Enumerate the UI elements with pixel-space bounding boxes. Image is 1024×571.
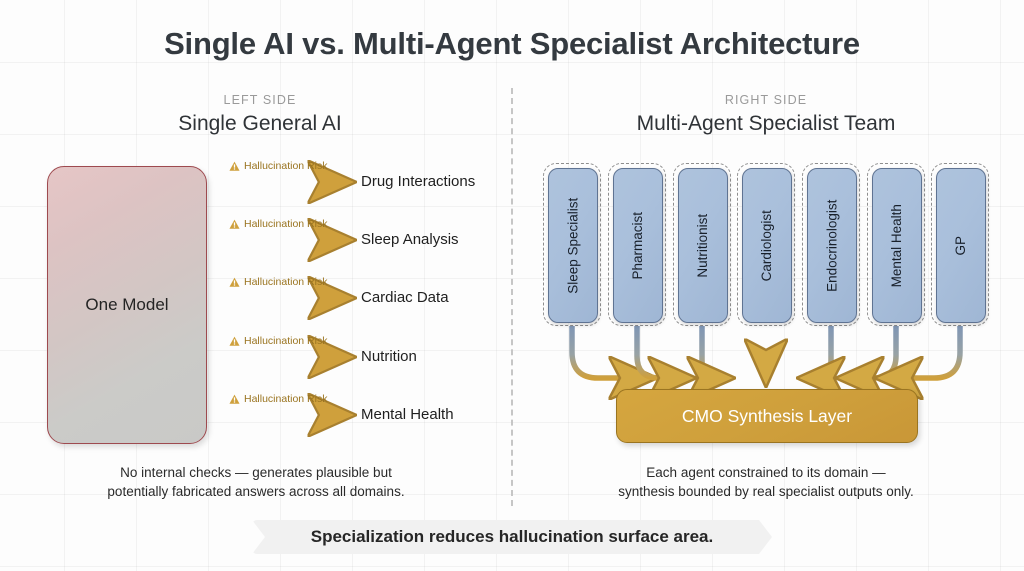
cmo-synthesis-layer-box[interactable]: CMO Synthesis Layer [616, 389, 918, 443]
specialist-pharmacist[interactable]: Pharmacist [608, 163, 666, 326]
specialist-endocrinologist[interactable]: Endocrinologist [802, 163, 860, 326]
risk-tag-mental-health: Hallucination Risk [229, 393, 327, 405]
risk-tag-label: Hallucination Risk [244, 218, 327, 230]
risk-tag-label: Hallucination Risk [244, 393, 327, 405]
center-divider [511, 88, 513, 506]
left-caption-line-1: No internal checks — generates plausible… [36, 463, 476, 482]
specialist-box[interactable]: Pharmacist [613, 168, 663, 323]
one-model-box[interactable]: One Model [47, 166, 207, 444]
specialist-sleep-specialist[interactable]: Sleep Specialist [543, 163, 601, 326]
left-caption: No internal checks — generates plausible… [36, 463, 476, 501]
left-caption-line-2: potentially fabricated answers across al… [36, 482, 476, 501]
cmo-synthesis-layer-label: CMO Synthesis Layer [682, 406, 852, 427]
specialist-mental-health[interactable]: Mental Health [867, 163, 925, 326]
risk-tag-drug-interactions: Hallucination Risk [229, 160, 327, 172]
specialist-gp[interactable]: GP [931, 163, 989, 326]
specialist-label: Nutritionist [696, 214, 710, 278]
specialist-nutritionist[interactable]: Nutritionist [673, 163, 731, 326]
right-caption-line-2: synthesis bounded by real specialist out… [546, 482, 986, 501]
content-layer: Single AI vs. Multi-Agent Specialist Arc… [0, 0, 1024, 571]
right-caption: Each agent constrained to its domain — s… [546, 463, 986, 501]
output-label-nutrition: Nutrition [361, 348, 417, 365]
risk-tag-label: Hallucination Risk [244, 276, 327, 288]
output-label-sleep-analysis: Sleep Analysis [361, 231, 459, 248]
right-caption-line-1: Each agent constrained to its domain — [546, 463, 986, 482]
warning-triangle-icon [229, 336, 240, 347]
specialist-label: Sleep Specialist [566, 197, 580, 293]
one-model-label: One Model [85, 295, 168, 315]
left-side-kicker: LEFT SIDE [60, 93, 460, 107]
specialist-label: Endocrinologist [825, 199, 839, 291]
risk-tag-nutrition: Hallucination Risk [229, 335, 327, 347]
specialist-box[interactable]: Sleep Specialist [548, 168, 598, 323]
summary-banner: Specialization reduces hallucination sur… [252, 520, 772, 554]
specialist-box[interactable]: GP [936, 168, 986, 323]
specialist-label: Mental Health [890, 204, 904, 287]
risk-tag-sleep-analysis: Hallucination Risk [229, 218, 327, 230]
specialist-cardiologist[interactable]: Cardiologist [737, 163, 795, 326]
output-label-mental-health: Mental Health [361, 406, 454, 423]
right-side-kicker: RIGHT SIDE [566, 93, 966, 107]
warning-triangle-icon [229, 161, 240, 172]
output-label-drug-interactions: Drug Interactions [361, 173, 475, 190]
specialist-box[interactable]: Nutritionist [678, 168, 728, 323]
warning-triangle-icon [229, 277, 240, 288]
specialist-label: GP [954, 236, 968, 256]
right-side-heading: Multi-Agent Specialist Team [566, 112, 966, 136]
warning-triangle-icon [229, 219, 240, 230]
risk-tag-label: Hallucination Risk [244, 335, 327, 347]
risk-tag-label: Hallucination Risk [244, 160, 327, 172]
risk-tag-cardiac-data: Hallucination Risk [229, 276, 327, 288]
specialist-box[interactable]: Cardiologist [742, 168, 792, 323]
specialist-label: Pharmacist [631, 212, 645, 280]
left-side-heading: Single General AI [60, 112, 460, 136]
output-label-cardiac-data: Cardiac Data [361, 289, 449, 306]
warning-triangle-icon [229, 394, 240, 405]
specialist-label: Cardiologist [760, 210, 774, 281]
specialist-box[interactable]: Endocrinologist [807, 168, 857, 323]
summary-banner-label: Specialization reduces hallucination sur… [311, 527, 713, 547]
page-title: Single AI vs. Multi-Agent Specialist Arc… [0, 26, 1024, 62]
specialist-box[interactable]: Mental Health [872, 168, 922, 323]
